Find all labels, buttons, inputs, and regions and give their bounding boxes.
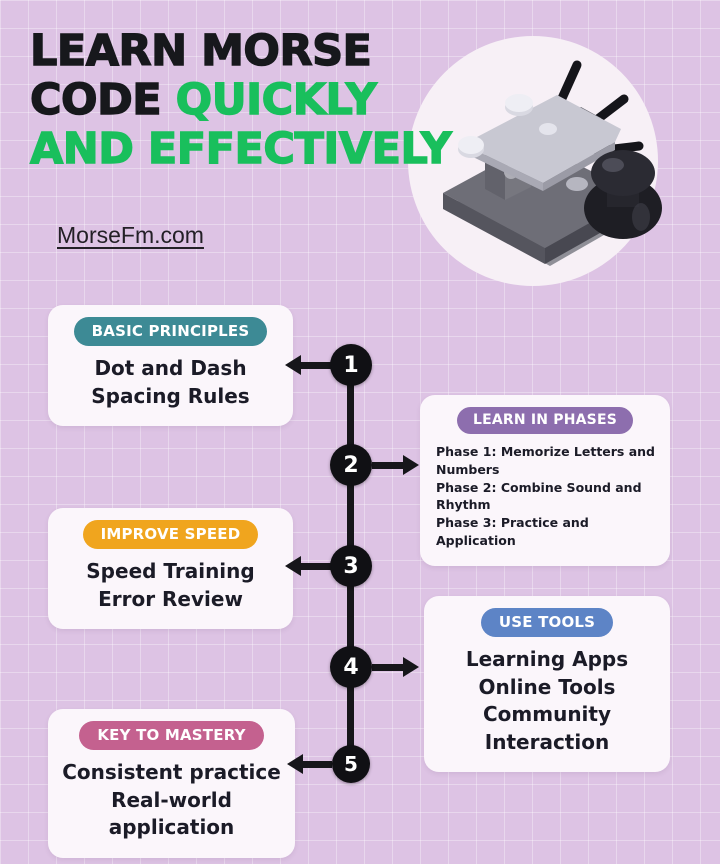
- card-line: Spacing Rules: [62, 383, 279, 411]
- card-pill-learn-in-phases: LEARN IN PHASES: [457, 407, 633, 434]
- card-pill-basic-principles: BASIC PRINCIPLES: [74, 317, 268, 346]
- step-node-3[interactable]: 3: [330, 545, 372, 587]
- card-line: Consistent practice: [62, 759, 281, 787]
- step-node-5[interactable]: 5: [332, 745, 370, 783]
- telegraph-morse-key-illustration: [425, 45, 675, 290]
- step-node-2[interactable]: 2: [330, 444, 372, 486]
- card-basic-principles[interactable]: BASIC PRINCIPLES Dot and Dash Spacing Ru…: [48, 305, 293, 426]
- card-line: Learning Apps: [438, 646, 656, 674]
- arrow-to-card-2: [372, 462, 404, 469]
- card-line: Numbers: [436, 461, 656, 479]
- card-line: Dot and Dash: [62, 355, 279, 383]
- arrow-to-card-3: [300, 563, 332, 570]
- title-line-2: CODE QUICKLY: [30, 79, 430, 122]
- title-line-3: AND EFFECTIVELY: [30, 128, 430, 171]
- card-pill-use-tools: USE TOOLS: [481, 608, 613, 637]
- card-line: Online Tools: [438, 674, 656, 702]
- infographic-poster: LEARN MORSE CODE QUICKLY AND EFFECTIVELY…: [0, 0, 720, 864]
- title-line-2-black: CODE: [30, 75, 161, 125]
- card-line: Real-world application: [62, 787, 281, 842]
- arrow-to-card-4: [372, 664, 404, 671]
- card-pill-improve-speed: IMPROVE SPEED: [83, 520, 259, 549]
- card-line: Phase 1: Memorize Letters and: [436, 443, 656, 461]
- step-node-1[interactable]: 1: [330, 344, 372, 386]
- card-use-tools[interactable]: USE TOOLS Learning Apps Online Tools Com…: [424, 596, 670, 772]
- card-key-to-mastery[interactable]: KEY TO MASTERY Consistent practice Real-…: [48, 709, 295, 858]
- card-line: Speed Training: [62, 558, 279, 586]
- card-learn-in-phases[interactable]: LEARN IN PHASES Phase 1: Memorize Letter…: [420, 395, 670, 566]
- arrow-to-card-1: [300, 362, 332, 369]
- card-pill-key-to-mastery: KEY TO MASTERY: [79, 721, 263, 750]
- card-line: Phase 2: Combine Sound and Rhythm: [436, 479, 656, 515]
- title-line-1: LEARN MORSE: [30, 30, 430, 73]
- card-improve-speed[interactable]: IMPROVE SPEED Speed Training Error Revie…: [48, 508, 293, 629]
- card-line: Community Interaction: [438, 701, 656, 756]
- card-line: Error Review: [62, 586, 279, 614]
- title-line-2-green: QUICKLY: [176, 75, 377, 125]
- arrow-to-card-5: [302, 761, 332, 768]
- site-url-link[interactable]: MorseFm.com: [57, 222, 204, 249]
- step-node-4[interactable]: 4: [330, 646, 372, 688]
- page-title: LEARN MORSE CODE QUICKLY AND EFFECTIVELY: [30, 30, 430, 177]
- card-line: Phase 3: Practice and Application: [436, 514, 656, 550]
